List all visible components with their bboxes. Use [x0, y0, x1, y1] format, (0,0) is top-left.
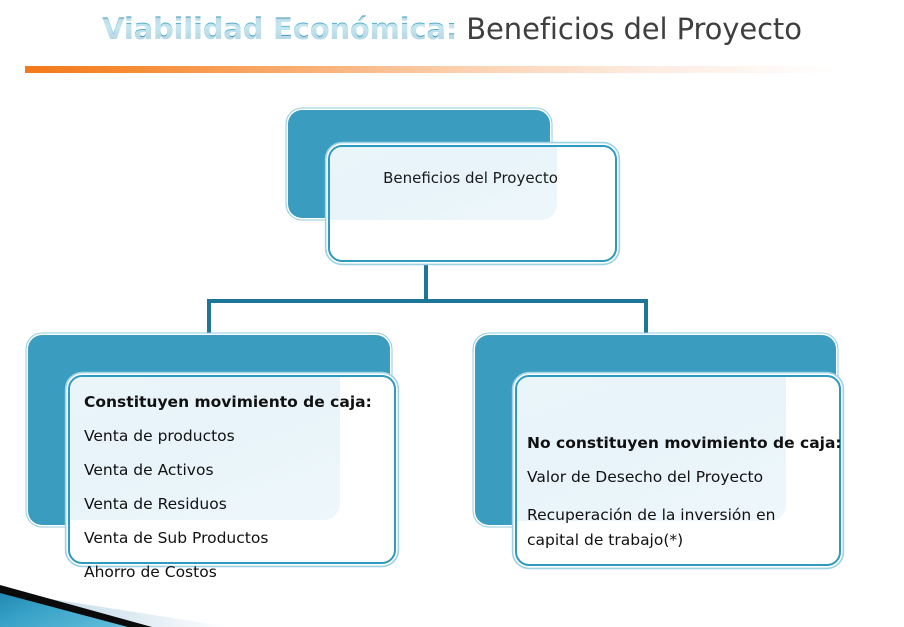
connector-drop-left [207, 299, 211, 336]
right-card-heading: No constituyen movimiento de caja: [527, 426, 817, 460]
connector-drop-right [644, 299, 648, 336]
title-divider-rule [25, 66, 887, 73]
connector-horizontal-bar [207, 299, 648, 303]
connector-root-stem [424, 258, 428, 302]
list-item: Venta de Residuos [84, 487, 384, 521]
list-item: Ahorro de Costos [84, 555, 384, 589]
diagram-node-cash-flow[interactable]: Constituyen movimiento de caja: Venta de… [28, 335, 392, 561]
page-title: Viabilidad Económica: Beneficios del Pro… [0, 8, 904, 50]
corner-pale-wedge [0, 591, 230, 627]
page-title-accent: Viabilidad Económica: [102, 12, 457, 46]
list-item: Venta de productos [84, 419, 384, 453]
right-card-text: No constituyen movimiento de caja: Valor… [527, 426, 817, 553]
page-title-rest: Beneficios del Proyecto [457, 12, 802, 46]
root-card-front [328, 145, 617, 262]
left-card-text: Constituyen movimiento de caja: Venta de… [84, 385, 384, 589]
diagram-node-root[interactable]: Beneficios del Proyecto [288, 110, 613, 258]
root-card-label: Beneficios del Proyecto [328, 169, 613, 187]
corner-black-stripe [0, 585, 152, 627]
list-item: Recuperación de la inversión en capital … [527, 503, 817, 553]
list-item: Valor de Desecho del Proyecto [527, 460, 817, 494]
corner-teal-wedge [0, 587, 150, 627]
diagram-node-non-cash-flow[interactable]: No constituyen movimiento de caja: Valor… [475, 335, 877, 607]
left-card-heading: Constituyen movimiento de caja: [84, 385, 384, 419]
list-item: Venta de Activos [84, 453, 384, 487]
list-item: Venta de Sub Productos [84, 521, 384, 555]
